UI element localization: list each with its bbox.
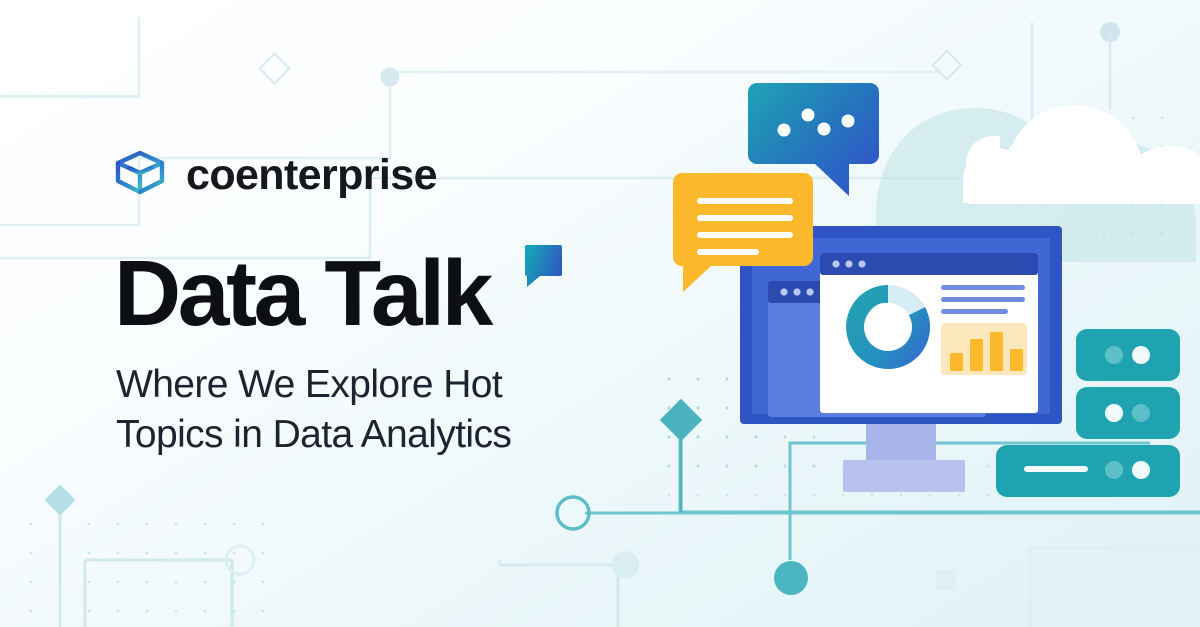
bubble-dot	[842, 115, 855, 128]
bubble-dot	[818, 123, 831, 136]
data-talk-banner: coenterprise Data Talk Where We Explore …	[0, 0, 1200, 627]
bar	[1010, 349, 1023, 371]
bubble-dot	[802, 109, 815, 122]
server-led-dim	[1132, 404, 1150, 422]
dashboard-bar-chart	[941, 323, 1027, 375]
server-led-dim	[1105, 346, 1123, 364]
server-rack-1	[1076, 329, 1180, 381]
window-dot	[806, 288, 813, 295]
bar	[990, 332, 1003, 371]
speech-bubble-accent-icon	[518, 243, 564, 289]
server-led-bright	[1132, 461, 1150, 479]
server-rack-3	[996, 445, 1180, 497]
server-led-dim	[1105, 461, 1123, 479]
monitor-stand	[843, 420, 965, 492]
coenterprise-cube-logo-icon	[112, 147, 168, 203]
brand-name: coenterprise	[186, 154, 437, 197]
server-status-bar	[1024, 466, 1088, 472]
dashboard-window	[820, 253, 1038, 413]
window-dot	[780, 288, 787, 295]
window-dot	[845, 260, 852, 267]
brand-lockup[interactable]: coenterprise	[112, 147, 437, 203]
server-rack-2	[1076, 387, 1180, 439]
server-led-bright	[1132, 346, 1150, 364]
bar	[970, 339, 983, 371]
dashboard-donut-chart	[846, 285, 930, 369]
text-content: coenterprise Data Talk Where We Explore …	[0, 0, 620, 627]
window-dot	[858, 260, 865, 267]
page-subtitle: Where We Explore Hot Topics in Data Anal…	[116, 360, 586, 459]
hero-title-wrap: Data Talk	[114, 249, 490, 337]
bar	[950, 353, 963, 371]
window-dot	[793, 288, 800, 295]
page-title: Data Talk	[114, 249, 490, 337]
server-led-bright	[1105, 404, 1123, 422]
window-dot	[832, 260, 839, 267]
bubble-dot	[778, 124, 791, 137]
